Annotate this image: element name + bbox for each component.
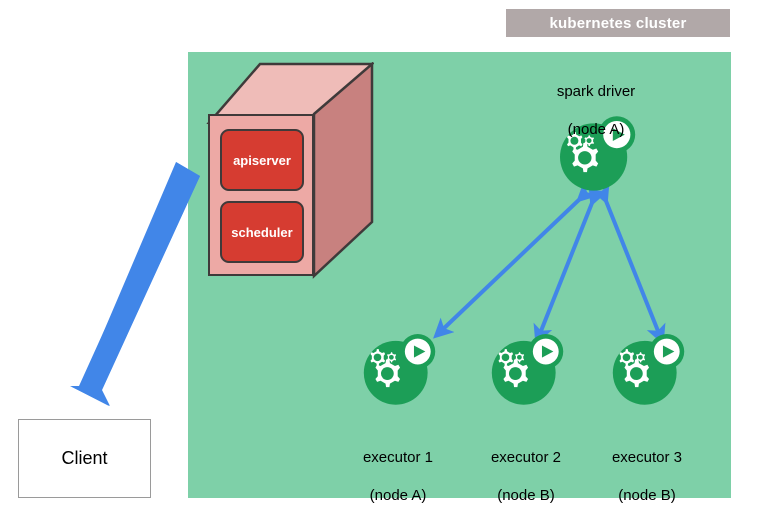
gears-play-icon <box>488 331 564 407</box>
executor-2-title: executor 2 <box>456 448 596 467</box>
client-box[interactable]: Client <box>18 419 151 498</box>
executor-1-node[interactable] <box>360 331 436 407</box>
executor-1-label: executor 1 (node A) <box>328 429 468 516</box>
executor-3-node[interactable] <box>609 331 685 407</box>
cluster-label-badge: kubernetes cluster <box>506 9 730 37</box>
apiserver-component[interactable]: apiserver <box>220 129 304 191</box>
executor-3-title: executor 3 <box>577 448 717 467</box>
cluster-label-text: kubernetes cluster <box>550 15 687 32</box>
cube-side-face <box>312 62 374 282</box>
executor-3-subtitle: (node B) <box>577 486 717 505</box>
gears-play-icon <box>360 331 436 407</box>
executor-2-label: executor 2 (node B) <box>456 429 596 516</box>
executor-1-subtitle: (node A) <box>328 486 468 505</box>
scheduler-component[interactable]: scheduler <box>220 201 304 263</box>
apiserver-label: apiserver <box>233 153 291 168</box>
control-plane-cube: apiserver scheduler <box>202 62 374 282</box>
scheduler-label: scheduler <box>231 225 292 240</box>
cube-front-face: apiserver scheduler <box>208 114 314 276</box>
executor-3-label: executor 3 (node B) <box>577 429 717 516</box>
executor-2-subtitle: (node B) <box>456 486 596 505</box>
spark-driver-subtitle: (node A) <box>516 120 676 139</box>
gears-play-icon <box>609 331 685 407</box>
executor-2-node[interactable] <box>488 331 564 407</box>
client-label: Client <box>61 448 107 469</box>
spark-driver-label: spark driver (node A) <box>516 63 676 158</box>
diagram-canvas: kubernetes cluster apiserver scheduler <box>0 0 761 516</box>
executor-1-title: executor 1 <box>328 448 468 467</box>
spark-driver-title: spark driver <box>516 82 676 101</box>
